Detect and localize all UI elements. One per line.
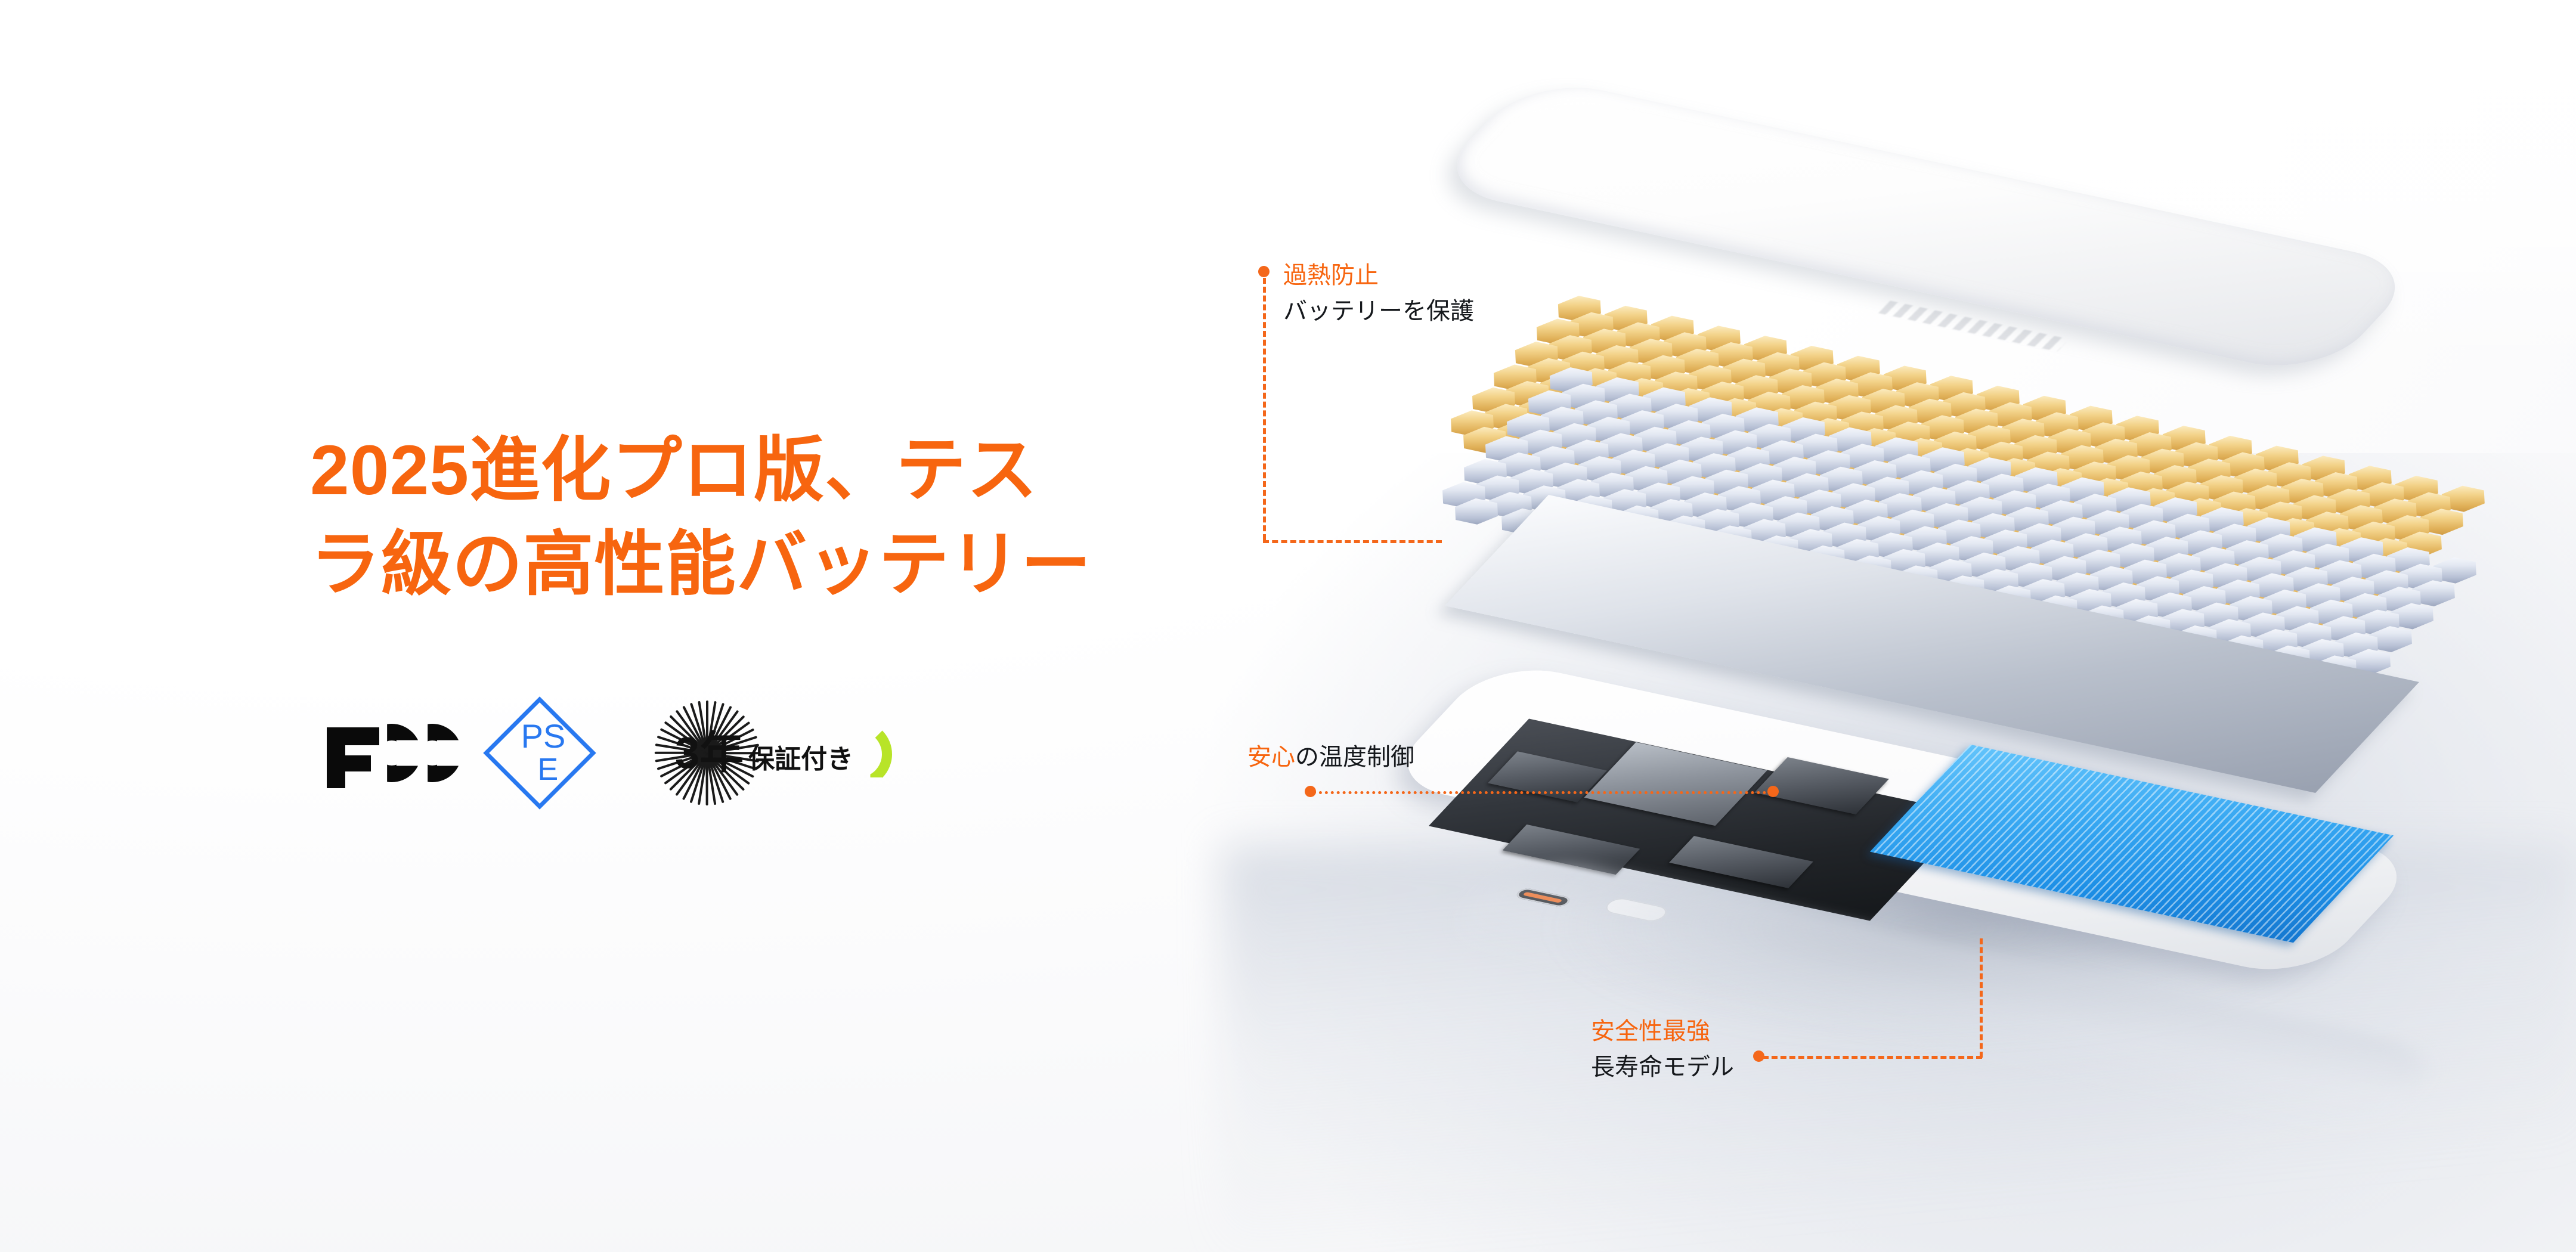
pse-label-ps: PS (521, 720, 566, 753)
callout-leader-horizontal (1763, 1056, 1982, 1059)
pse-label-e: E (538, 754, 559, 785)
warranty-arc-icon (853, 721, 892, 788)
certification-badges: PS E 3年 保証付き (327, 684, 897, 822)
callout-title: 安全性最強 (1591, 1014, 1734, 1049)
callout-temperature-control: 安心の温度制御 (1247, 739, 1414, 775)
product-exploded-view (1300, 137, 2576, 1103)
warranty-suffix: 保証付き (748, 746, 853, 773)
callout-subtitle: バッテリーを保護 (1283, 293, 1474, 329)
callout-subtitle: 長寿命モデル (1591, 1049, 1734, 1085)
callout-leader-horizontal (1263, 540, 1442, 543)
callout-leader-vertical (1263, 278, 1266, 540)
callout-dot (1258, 266, 1270, 277)
callout-max-safety: 安全性最強 長寿命モデル (1591, 1014, 1734, 1085)
warranty-years: 3年 (675, 731, 744, 775)
callout-leader-horizontal (1313, 791, 1772, 794)
callout-title-accent: 安心 (1247, 744, 1295, 770)
callout-endpoint-dot (1767, 786, 1779, 797)
callout-leader-vertical (1980, 938, 1983, 1058)
callout-title-rest: の温度制御 (1295, 744, 1414, 770)
promo-banner: 2025進化プロ版、テス ラ級の高性能バッテリー PS E 3年 保証付き (0, 0, 2576, 1252)
callout-overheat-protection: 過熱防止 バッテリーを保護 (1283, 258, 1474, 329)
page-title: 2025進化プロ版、テス ラ級の高性能バッテリー (310, 423, 1157, 612)
callout-title: 過熱防止 (1283, 258, 1474, 293)
fcc-logo-icon (327, 718, 433, 788)
warranty-seal: 3年 保証付き (646, 693, 897, 813)
pse-logo-icon: PS E (484, 689, 595, 817)
